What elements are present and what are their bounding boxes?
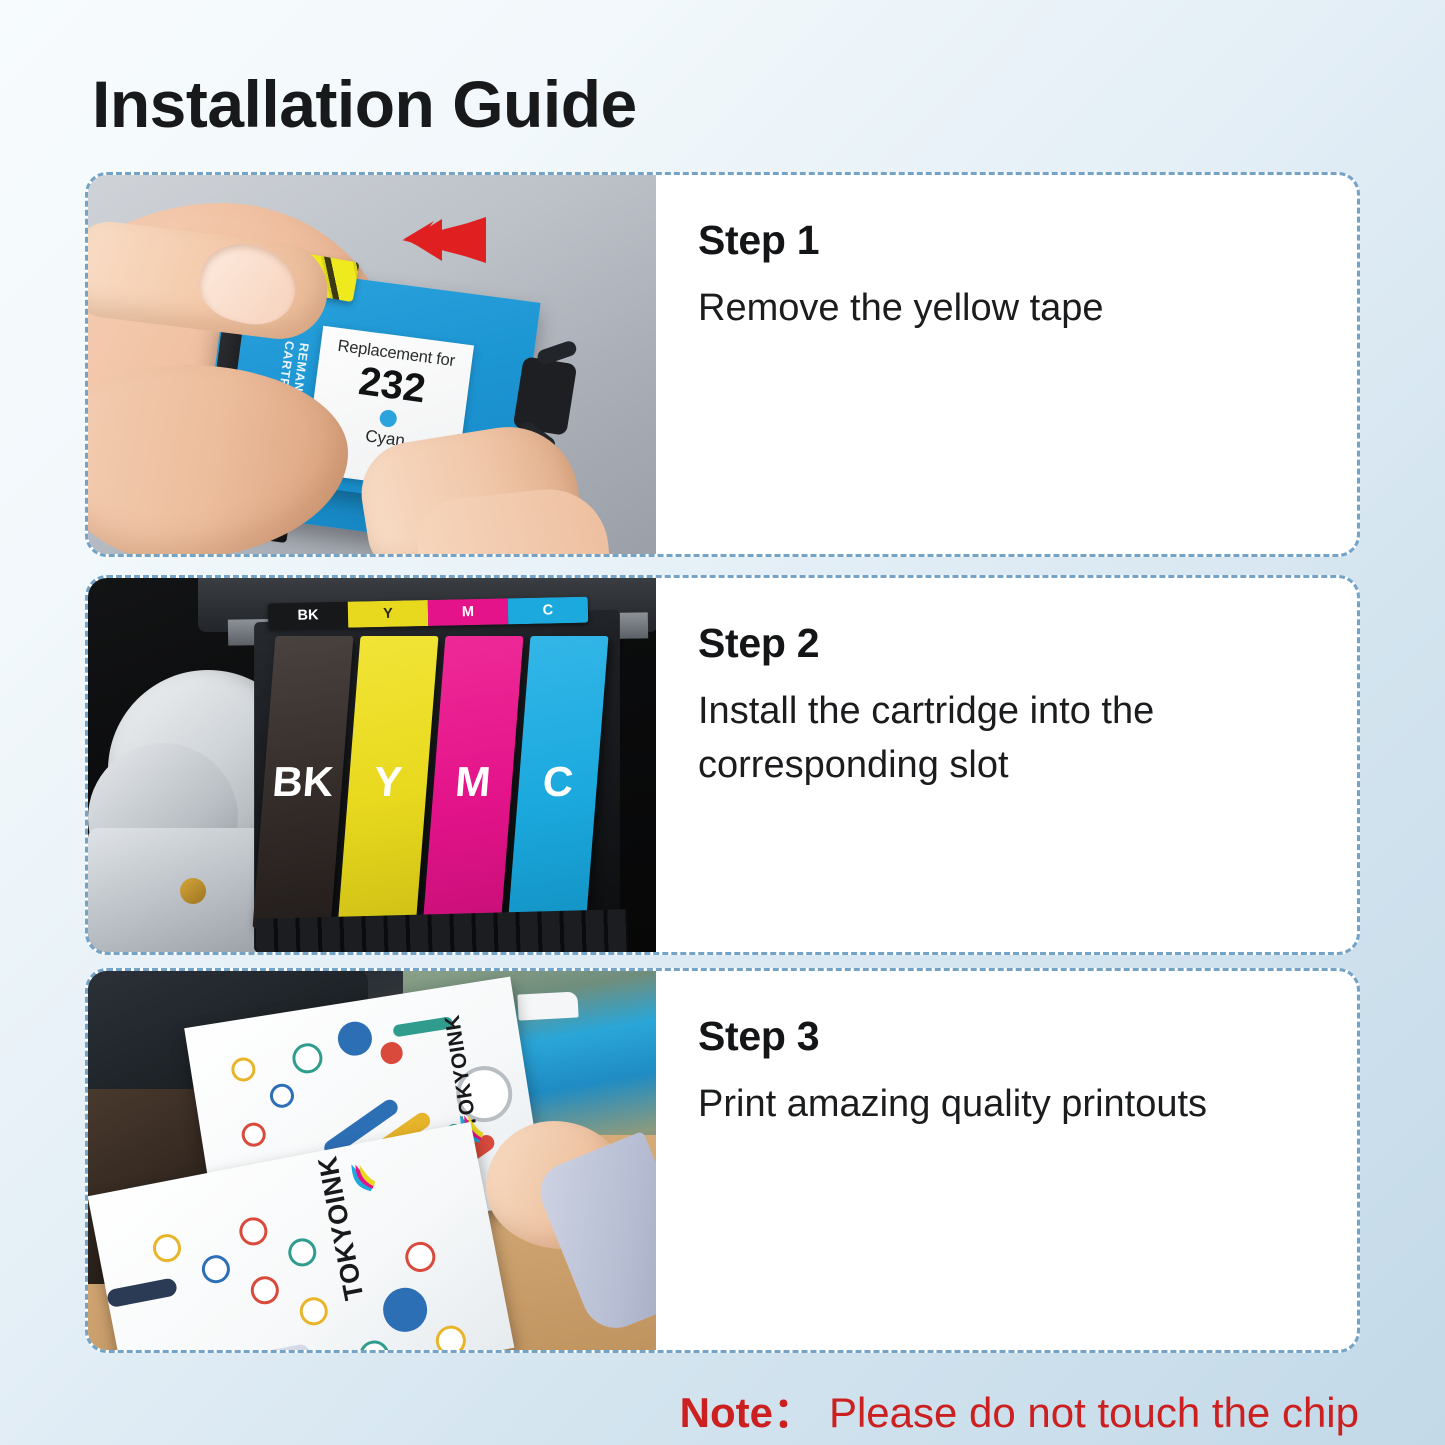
page-title: Installation Guide [92, 66, 637, 142]
slot-label-bk: BK [268, 602, 349, 630]
step-3-title: Step 3 [698, 1013, 1357, 1060]
sailboat-shape [517, 991, 578, 1020]
step-1-title: Step 1 [698, 217, 1357, 264]
step-2-text: Step 2 Install the cartridge into the co… [656, 578, 1357, 952]
slot-label-c: C [508, 597, 589, 625]
step-1-text: Step 1 Remove the yellow tape [656, 175, 1357, 554]
cartridge-label-model: 232 [356, 361, 428, 410]
slot-label-m: M [428, 598, 509, 626]
cartridge-yellow: Y [338, 636, 439, 928]
step-2-photo: BK Y M C BK Y M C [88, 578, 656, 952]
step-card-2: BK Y M C BK Y M C Step 2 Install the car… [85, 575, 1360, 955]
step-2-description: Install the cartridge into the correspon… [698, 685, 1258, 793]
step-3-photo: TOKYOINK TOKYOINK [88, 971, 656, 1350]
note-label: Note： [680, 1389, 815, 1436]
step-card-3: TOKYOINK TOKYOINK [85, 968, 1360, 1353]
note: Note：Please do not touch the chip [680, 1379, 1359, 1440]
printer-screw [180, 878, 206, 904]
step-1-description: Remove the yellow tape [698, 282, 1258, 336]
cartridge-cyan: C [508, 636, 609, 928]
cartridge-row: BK Y M C [264, 636, 614, 936]
step-1-photo: REMANUFACTURED INK CARTRIDGE Replacement… [88, 175, 656, 554]
cartridge-black: BK [253, 636, 354, 928]
step-3-description: Print amazing quality printouts [698, 1078, 1258, 1132]
step-2-title: Step 2 [698, 620, 1357, 667]
step-3-text: Step 3 Print amazing quality printouts [656, 971, 1357, 1350]
cartridge-magenta: M [423, 636, 524, 928]
cartridge-clip [513, 356, 578, 436]
slot-label-y: Y [348, 600, 429, 628]
cmyk-swirl-icon-lower [347, 1159, 377, 1197]
step-card-1: REMANUFACTURED INK CARTRIDGE Replacement… [85, 172, 1360, 557]
note-text: Please do not touch the chip [829, 1389, 1359, 1436]
red-arrow-icon [368, 211, 488, 275]
cartridge-color-dot [378, 409, 397, 428]
